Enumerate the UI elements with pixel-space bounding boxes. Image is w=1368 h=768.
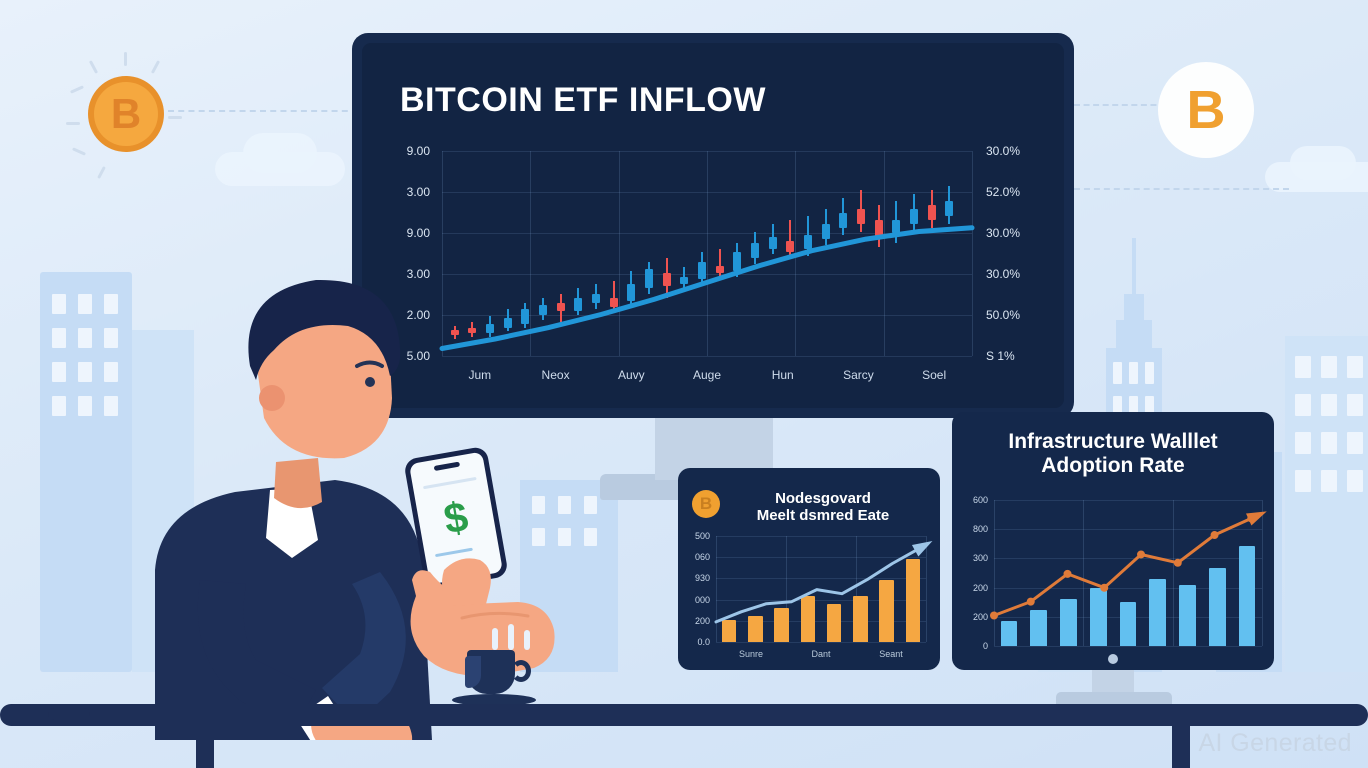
y-axis-label-right: 50.0% bbox=[986, 308, 1020, 322]
dashed-line-right-2 bbox=[1074, 188, 1289, 190]
desk-leg-right bbox=[1172, 722, 1190, 768]
y-axis-label: 500 bbox=[678, 531, 710, 541]
y-axis-label: 600 bbox=[956, 495, 988, 505]
y-axis-label: 060 bbox=[678, 552, 710, 562]
y-axis-label: 200 bbox=[956, 583, 988, 593]
gridline-vertical bbox=[1262, 500, 1263, 646]
node-reward-plot: 5000609300002000.0SunreDantSeant bbox=[716, 536, 926, 642]
illustration-scene: B B BITCOIN ETF INFLOW 9.003.009.003.002… bbox=[0, 0, 1368, 768]
desk-leg-left bbox=[196, 722, 214, 768]
wallet-adoption-plot: 6008003002002000 bbox=[994, 500, 1262, 646]
dashed-line-left bbox=[168, 110, 358, 112]
main-chart-title: BITCOIN ETF INFLOW bbox=[400, 81, 766, 120]
building-far-right bbox=[1285, 336, 1368, 672]
secondary-monitor-right[interactable]: Infrastructure Walllet Adoption Rate 600… bbox=[952, 412, 1274, 670]
phone-notch bbox=[434, 462, 460, 471]
steam-3 bbox=[524, 630, 530, 650]
monitor-power-dot bbox=[1108, 654, 1118, 664]
y-axis-label-right: 30.0% bbox=[986, 226, 1020, 240]
bitcoin-symbol-icon-right: B bbox=[1187, 79, 1226, 141]
gridline-horizontal bbox=[716, 642, 926, 643]
node-reward-title: Nodesgovard Meelt dsmred Eate bbox=[718, 490, 928, 525]
x-axis-label: Seant bbox=[879, 649, 903, 659]
dashed-line-right bbox=[1074, 104, 1166, 106]
y-axis-label-right: 30.0% bbox=[986, 144, 1020, 158]
bitcoin-coin-left: B bbox=[88, 76, 164, 152]
y-axis-label: 800 bbox=[956, 524, 988, 534]
y-axis-label: 0 bbox=[956, 641, 988, 651]
wallet-title-line1: Infrastructure Walllet bbox=[966, 430, 1260, 454]
bitcoin-symbol-icon: B bbox=[88, 76, 164, 152]
y-axis-label-right: 52.0% bbox=[986, 185, 1020, 199]
arrow-head bbox=[1246, 511, 1267, 525]
bitcoin-icon-small: B bbox=[692, 490, 720, 518]
y-axis-label: 0.0 bbox=[678, 637, 710, 647]
steam bbox=[492, 628, 498, 650]
phone-line-top bbox=[423, 477, 477, 489]
arrow-head bbox=[912, 541, 933, 556]
node-reward-title-line2: Meelt dsmred Eate bbox=[718, 507, 928, 524]
ai-generated-watermark: AI Generated bbox=[1198, 729, 1352, 758]
x-axis-label: Sunre bbox=[739, 649, 763, 659]
overlay-line bbox=[716, 536, 926, 642]
y-axis-label: 200 bbox=[956, 612, 988, 622]
x-axis-label: Auvy bbox=[618, 368, 645, 382]
x-axis-label: Dant bbox=[811, 649, 830, 659]
y-axis-label: 300 bbox=[956, 553, 988, 563]
y-axis-label: 000 bbox=[678, 595, 710, 605]
tower-spire bbox=[1132, 238, 1136, 298]
secondary-monitor-left[interactable]: Nodesgovard Meelt dsmred Eate B 50006093… bbox=[678, 468, 940, 670]
node-reward-title-line1: Nodesgovard bbox=[718, 490, 928, 507]
y-axis-label-left: 9.00 bbox=[407, 226, 430, 240]
x-axis-label: Soel bbox=[922, 368, 946, 382]
wallet-title-line2: Adoption Rate bbox=[966, 454, 1260, 478]
y-axis-label-right: S 1% bbox=[986, 349, 1015, 363]
x-axis-label: Hun bbox=[772, 368, 794, 382]
cup-handle bbox=[511, 660, 531, 682]
y-axis-label-left: 3.00 bbox=[407, 185, 430, 199]
wallet-adoption-title: Infrastructure Walllet Adoption Rate bbox=[966, 430, 1260, 478]
gridline-vertical bbox=[972, 151, 973, 356]
cloud-left-2 bbox=[243, 133, 317, 173]
steam-2 bbox=[508, 624, 514, 650]
desk-edge-cap bbox=[48, 708, 90, 720]
bitcoin-badge-right: B bbox=[1158, 62, 1254, 158]
y-axis-label-left: 9.00 bbox=[407, 144, 430, 158]
gridline-horizontal bbox=[994, 646, 1262, 647]
overlay-line bbox=[994, 500, 1262, 646]
cloud-right-2 bbox=[1290, 146, 1356, 180]
y-axis-label: 930 bbox=[678, 573, 710, 583]
y-axis-label: 200 bbox=[678, 616, 710, 626]
y-axis-label-right: 30.0% bbox=[986, 267, 1020, 281]
x-axis-label: Auge bbox=[693, 368, 721, 382]
gridline-vertical bbox=[926, 536, 927, 642]
x-axis-label: Sarcy bbox=[843, 368, 874, 382]
